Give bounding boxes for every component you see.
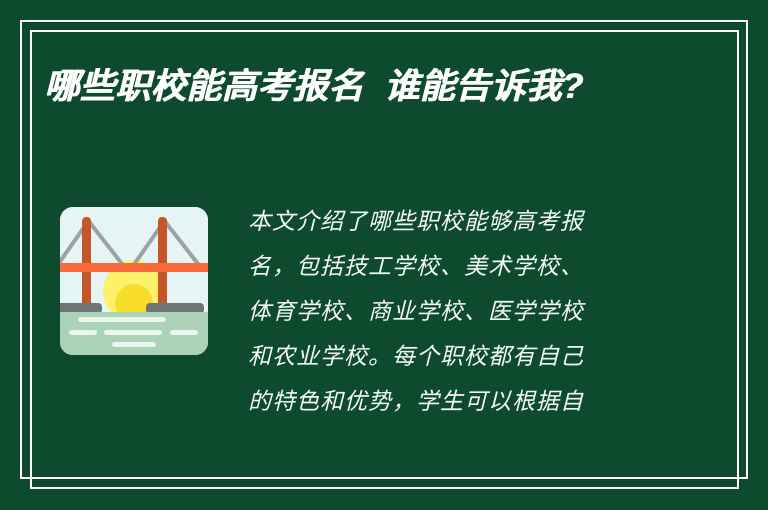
- water-wave: [170, 330, 198, 335]
- article-card: 哪些职校能高考报名 谁能告诉我?: [0, 0, 768, 510]
- water-wave: [69, 330, 97, 335]
- bridge-deck: [60, 263, 208, 272]
- article-summary: 本文介绍了哪些职校能够高考报 名，包括技工学校、美术学校、 体育学校、商业学校、…: [248, 200, 724, 425]
- summary-line: 名，包括技工学校、美术学校、: [248, 245, 724, 290]
- content-row: 本文介绍了哪些职校能够高考报 名，包括技工学校、美术学校、 体育学校、商业学校、…: [44, 200, 724, 425]
- page-title: 哪些职校能高考报名 谁能告诉我?: [44, 60, 734, 113]
- bridge-sunset-illustration: [60, 207, 208, 355]
- summary-line: 体育学校、商业学校、医学学校: [248, 290, 724, 335]
- summary-line: 和农业学校。每个职校都有自己: [248, 335, 724, 380]
- summary-line: 本文介绍了哪些职校能够高考报: [248, 200, 724, 245]
- summary-line: 的特色和优势，学生可以根据自: [248, 380, 724, 425]
- water-wave: [78, 317, 166, 322]
- water-wave: [112, 342, 156, 347]
- water-wave: [104, 330, 162, 335]
